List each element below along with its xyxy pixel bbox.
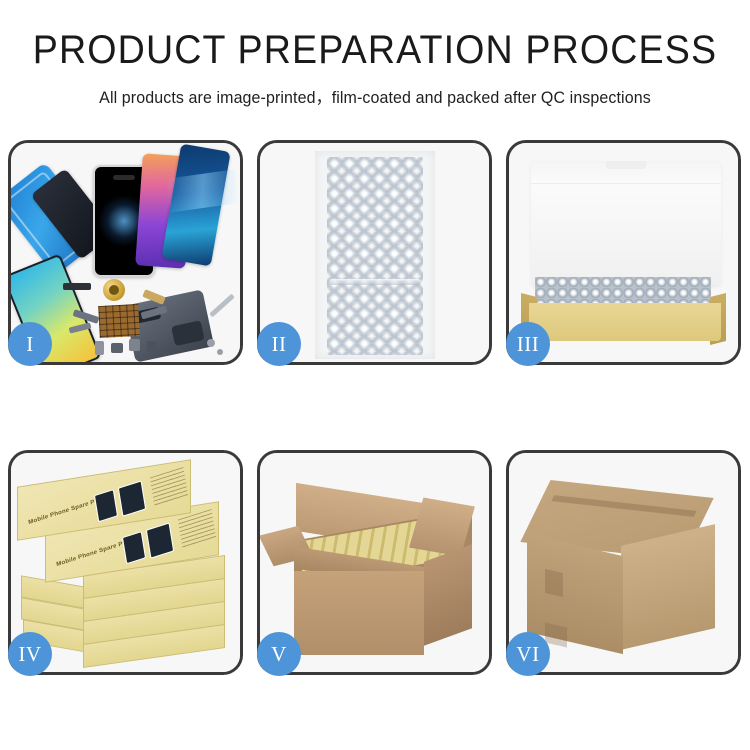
header: PRODUCT PREPARATION PROCESS All products…	[0, 0, 750, 108]
box-spec-text-lines	[150, 467, 188, 507]
kraft-box-front	[529, 303, 721, 341]
carton-handle-tab	[545, 569, 563, 597]
bubble-pattern-overlay	[327, 157, 423, 355]
step-badge-3: III	[506, 322, 550, 366]
process-step-panel-5: V	[257, 450, 492, 675]
process-step-panel-3: III	[506, 140, 741, 365]
carton-handle-tab	[545, 622, 567, 647]
step-badge-1: I	[8, 322, 52, 366]
carton-right-face	[621, 524, 715, 650]
small-component-part	[95, 341, 104, 355]
bubble-wrap-seam	[329, 279, 421, 285]
process-step-panel-2: II	[257, 140, 492, 365]
white-box-lid	[531, 161, 721, 285]
screwdriver-tool	[209, 294, 235, 318]
process-step-panel-6: VI	[506, 450, 741, 675]
small-component-part	[111, 343, 123, 353]
step-badge-5: V	[257, 632, 301, 676]
carton-front-face	[294, 571, 424, 655]
process-step-panel-1: I	[8, 140, 243, 365]
page-subtitle: All products are image-printed，film-coat…	[11, 84, 739, 108]
small-component-part	[147, 341, 157, 351]
gold-coil-part	[103, 279, 125, 301]
process-step-panel-4: Mobile Phone Spare Parts Mobile Phone Sp…	[8, 450, 243, 675]
box-artwork-screen	[146, 522, 174, 558]
bubble-wrapped-contents	[535, 277, 711, 305]
screw-part	[207, 339, 215, 347]
process-step-grid: I II III	[8, 140, 742, 675]
bubble-wrap-pouch	[315, 151, 435, 359]
speaker-bar-part	[63, 283, 91, 290]
chip-grid-part	[98, 304, 140, 338]
box-artwork-screen	[94, 489, 118, 522]
step-badge-2: II	[257, 322, 301, 366]
carton-right-side	[424, 544, 472, 645]
step-badge-4: IV	[8, 632, 52, 676]
box-spec-text-lines	[178, 509, 216, 549]
box-artwork-screen	[122, 531, 146, 564]
page-title: PRODUCT PREPARATION PROCESS	[23, 30, 728, 70]
screw-part	[217, 349, 223, 355]
box-artwork-screen	[118, 480, 146, 516]
small-component-part	[129, 339, 140, 351]
step-badge-6: VI	[506, 632, 550, 676]
